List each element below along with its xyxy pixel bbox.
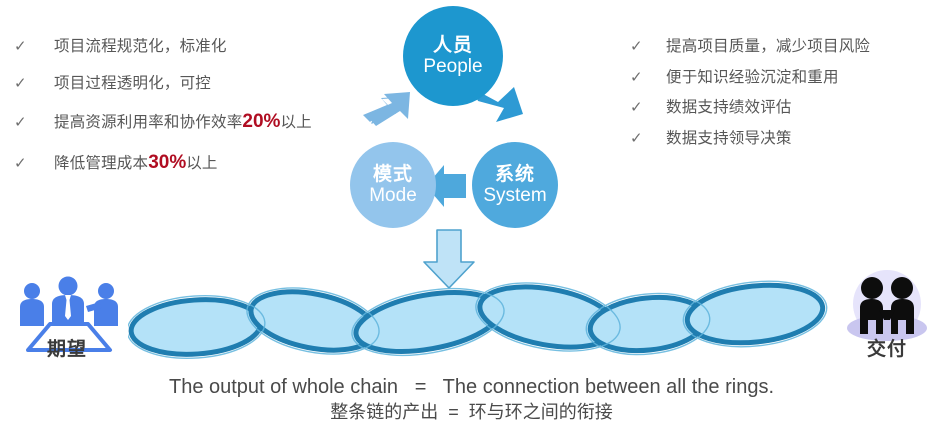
check-icon: ✓ (630, 70, 650, 85)
circle-system-label-en: System (483, 186, 546, 206)
check-icon: ✓ (630, 131, 650, 146)
list-item-label: 数据支持绩效评估 (666, 99, 792, 118)
list-item-label: 降低管理成本30%以上 (54, 152, 218, 175)
circle-mode-label-cn: 模式 (373, 165, 413, 185)
list-item-label: 提高项目质量，减少项目风险 (666, 38, 870, 57)
highlight-percent: 20% (242, 111, 280, 132)
caption-block: The output of whole chain = The connecti… (0, 374, 943, 424)
check-icon: ✓ (14, 156, 34, 171)
list-item-label: 数据支持领导决策 (666, 130, 792, 149)
check-icon: ✓ (630, 39, 650, 54)
circle-mode[interactable]: 模式 Mode (350, 142, 436, 228)
circle-system-label-cn: 系统 (495, 165, 535, 185)
arrow-mode-to-people (363, 92, 410, 126)
highlight-percent: 30% (148, 152, 186, 173)
list-item-label: 项目流程规范化，标准化 (54, 38, 227, 57)
endpoint-end-label: 交付 (832, 334, 942, 361)
caption-chinese: 整条链的产出 = 环与环之间的衔接 (0, 401, 943, 424)
circle-people-label-en: People (423, 57, 482, 77)
list-item: ✓ 数据支持绩效评估 (630, 99, 940, 118)
circle-mode-label-en: Mode (369, 186, 417, 206)
chain-ring (129, 296, 262, 359)
check-icon: ✓ (630, 100, 650, 115)
list-item: ✓ 便于知识经验沉淀和重用 (630, 69, 940, 88)
caption-english: The output of whole chain = The connecti… (0, 374, 943, 400)
circle-people[interactable]: 人员 People (403, 6, 503, 106)
benefits-list-right: ✓ 提高项目质量，减少项目风险 ✓ 便于知识经验沉淀和重用 ✓ 数据支持绩效评估… (630, 38, 940, 160)
endpoint-start-label: 期望 (8, 334, 126, 361)
check-icon: ✓ (14, 115, 34, 130)
chain-ring (684, 279, 825, 349)
list-item-label: 项目过程透明化，可控 (54, 75, 211, 94)
chain-of-rings (128, 272, 828, 367)
check-icon: ✓ (14, 39, 34, 54)
list-item-label: 便于知识经验沉淀和重用 (666, 69, 839, 88)
list-item: ✓ 提高项目质量，减少项目风险 (630, 38, 940, 57)
list-item-label: 提高资源利用率和协作效率20%以上 (54, 111, 312, 134)
circle-people-label-cn: 人员 (433, 36, 473, 56)
circle-system[interactable]: 系统 System (472, 142, 558, 228)
list-item: ✓ 数据支持领导决策 (630, 130, 940, 149)
check-icon: ✓ (14, 76, 34, 91)
slide-canvas: ✓ 项目流程规范化，标准化 ✓ 项目过程透明化，可控 ✓ 提高资源利用率和协作效… (0, 0, 943, 447)
